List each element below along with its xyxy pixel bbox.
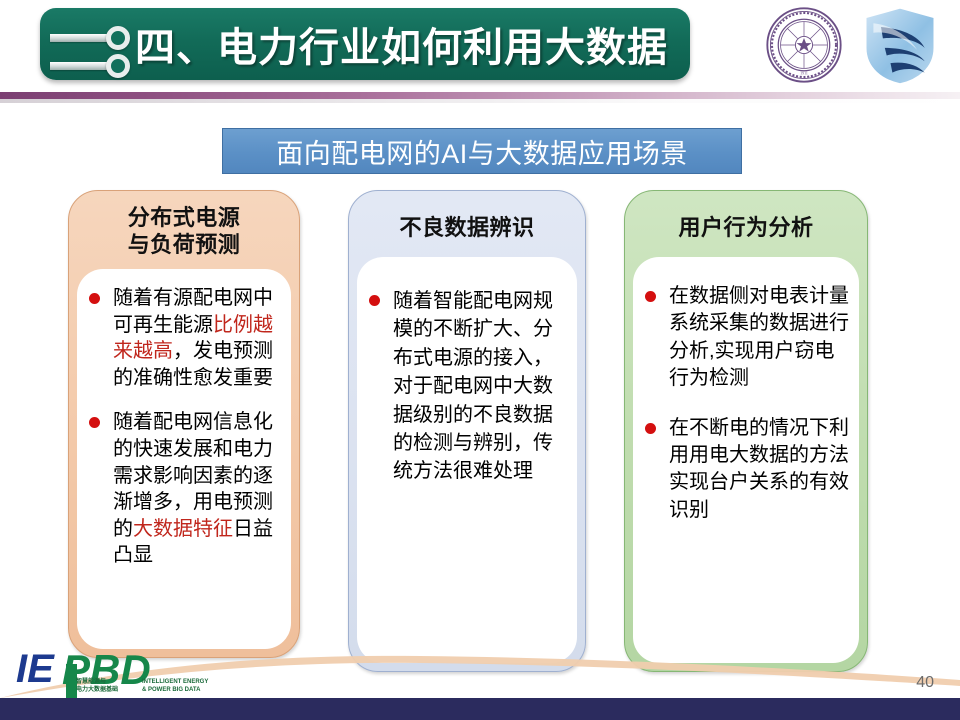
card-title: 用户行为分析 [625,215,867,242]
svg-text:IE: IE [16,647,55,691]
card-title-line-1: 分布式电源 [69,205,299,232]
card-body: 随着智能配电网规模的不断扩大、分布式电源的接入，对于配电网中大数据级别的不良数据… [357,257,577,663]
bullet-seg: 在不断电的情况下利用用电大数据的方法实现台户关系的有效识别 [669,417,849,521]
card-user-behavior-analysis[interactable]: 用户行为分析 在数据侧对电表计量系统采集的数据进行分析,实现用户窃电行为检测 在… [624,190,868,672]
slide-header: 四、电力行业如何利用大数据 1911 [0,0,960,90]
slide-root: 四、电力行业如何利用大数据 1911 [0,0,960,720]
bullet-dot-icon [369,295,380,306]
list-item: 随着配电网信息化的快速发展和电力需求影响因素的逐渐增多，用电预测的大数据特征日益… [87,409,281,569]
double-line-ring-ornament-icon [48,26,148,84]
shield-logo-icon [862,6,938,86]
card-title-line-1: 不良数据辨识 [349,215,585,242]
svg-text:1911: 1911 [800,72,808,76]
bullet-seg: 在数据侧对电表计量系统采集的数据进行分析,实现用户窃电行为检测 [669,285,849,389]
card-title: 分布式电源 与负荷预测 [69,205,299,259]
card-distributed-generation-load-forecast[interactable]: 分布式电源 与负荷预测 随着有源配电网中可再生能源比例越来越高，发电预测的准确性… [68,190,300,658]
subtitle-text: 面向配电网的AI与大数据应用场景 [276,132,688,171]
iepbd-brand-logo: IE PBD 智慧能源与 电力大数据基础 INTELLIGENT ENERGY … [14,642,234,700]
bullet-dot-icon [89,417,100,428]
list-item: 随着智能配电网规模的不断扩大、分布式电源的接入，对于配电网中大数据级别的不良数据… [367,287,567,486]
bullet-seg-highlight: 大数据特征 [133,518,233,540]
bullet-dot-icon [645,423,656,434]
header-divider [0,92,960,99]
card-title-line-2: 与负荷预测 [69,232,299,259]
bullet-dot-icon [89,293,100,304]
scenario-cards-container: 分布式电源 与负荷预测 随着有源配电网中可再生能源比例越来越高，发电预测的准确性… [0,190,960,680]
brand-chinese-text: 智慧能源与 电力大数据基础 [76,678,118,694]
page-number: 40 [916,674,934,692]
card-body: 随着有源配电网中可再生能源比例越来越高，发电预测的准确性愈发重要 随着配电网信息… [77,269,291,649]
page-title: 四、电力行业如何利用大数据 [135,15,668,73]
card-bad-data-identification[interactable]: 不良数据辨识 随着智能配电网规模的不断扩大、分布式电源的接入，对于配电网中大数据… [348,190,586,672]
bullet-dot-icon [645,291,656,302]
card-title-line-1: 用户行为分析 [625,215,867,242]
tsinghua-university-seal-icon: 1911 [765,6,843,84]
title-banner: 四、电力行业如何利用大数据 [40,8,690,80]
list-item: 随着有源配电网中可再生能源比例越来越高，发电预测的准确性愈发重要 [87,285,281,391]
card-body: 在数据侧对电表计量系统采集的数据进行分析,实现用户窃电行为检测 在不断电的情况下… [633,257,859,663]
bullet-seg: 随着智能配电网规模的不断扩大、分布式电源的接入，对于配电网中大数据级别的不良数据… [393,290,553,482]
bottom-bar [0,698,960,720]
card-title: 不良数据辨识 [349,215,585,242]
subtitle-banner: 面向配电网的AI与大数据应用场景 [222,128,742,174]
brand-english-text: INTELLIGENT ENERGY & POWER BIG DATA [142,678,208,694]
header-divider-shadow [0,99,960,103]
list-item: 在不断电的情况下利用用电大数据的方法实现台户关系的有效识别 [643,415,849,525]
list-item: 在数据侧对电表计量系统采集的数据进行分析,实现用户窃电行为检测 [643,283,849,393]
